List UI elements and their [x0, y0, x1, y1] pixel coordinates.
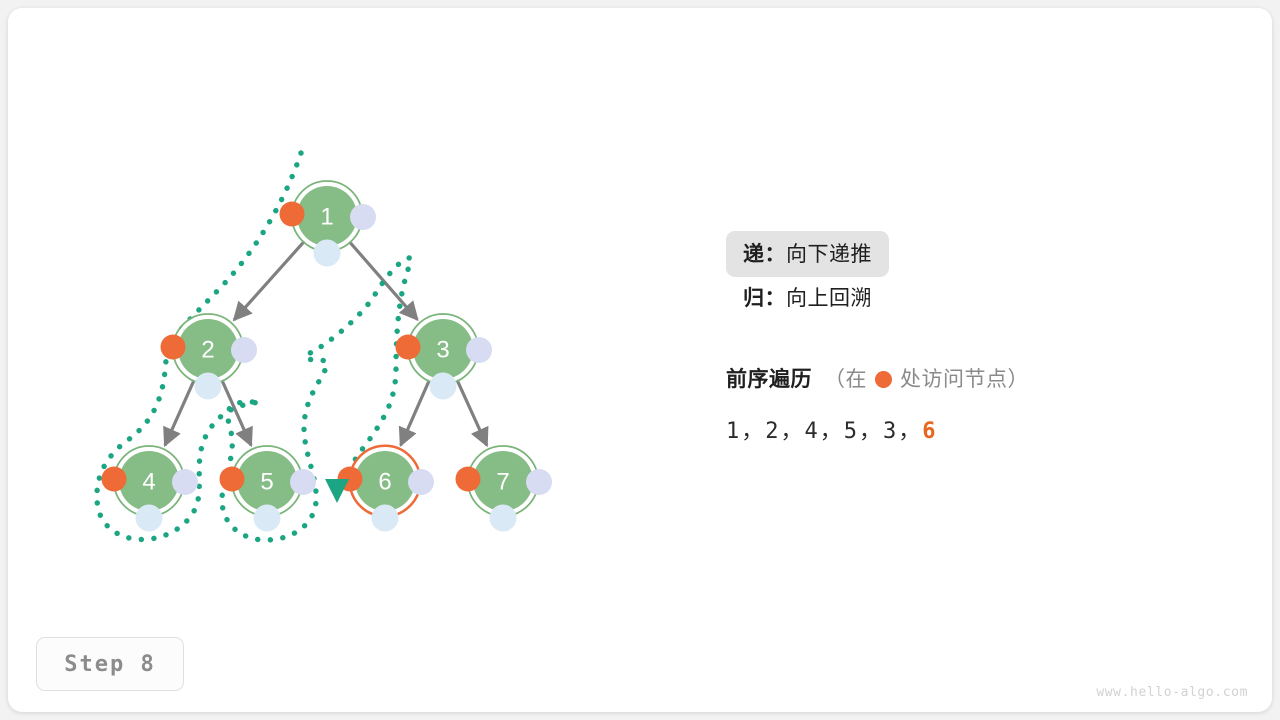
- traversal-name: 前序遍历: [726, 363, 812, 393]
- legend-key-backtrack: 归：: [743, 282, 786, 312]
- node-visit-marker-dot: [280, 202, 305, 227]
- tree-node-5[interactable]: 5: [220, 446, 317, 532]
- node-right-slot-dot: [408, 469, 434, 495]
- node-label: 6: [378, 469, 391, 496]
- orange-dot-icon: [875, 371, 892, 388]
- legend-key-recurse: 递：: [743, 238, 786, 268]
- tree-edge: [401, 380, 430, 445]
- node-label: 2: [201, 337, 214, 364]
- node-bottom-slot-dot: [136, 505, 163, 532]
- tree-edge: [234, 241, 304, 320]
- node-bottom-slot-dot: [314, 240, 341, 267]
- node-bottom-slot-dot: [195, 373, 222, 400]
- node-label: 4: [142, 469, 155, 496]
- legend-row-backtrack: 归：向上回溯: [726, 276, 1246, 320]
- node-label: 7: [496, 469, 509, 496]
- tree-node-7[interactable]: 7: [456, 446, 553, 532]
- node-right-slot-dot: [172, 469, 198, 495]
- node-right-slot-dot: [290, 469, 316, 495]
- traversal-block: 前序遍历 （在 处访问节点） 1，2，4，5，3，6: [726, 363, 1266, 445]
- node-right-slot-dot: [231, 337, 257, 363]
- tree-visualization-canvas: 1234567: [8, 8, 1272, 712]
- tree-edge: [457, 380, 487, 446]
- legend-pill-backtrack: 归：向上回溯: [726, 275, 889, 321]
- tree-node-4[interactable]: 4: [102, 446, 199, 532]
- pointer-triangle-icon: [325, 479, 349, 503]
- node-label: 5: [260, 469, 273, 496]
- current-position-marker: [325, 479, 349, 503]
- legend-panel: 递：向下递推 归：向上回溯: [726, 232, 1246, 320]
- node-visit-marker-dot: [161, 335, 186, 360]
- tree-nodes: 1234567: [102, 181, 553, 532]
- node-visit-marker-dot: [456, 467, 481, 492]
- binary-tree-diagram: 1234567: [8, 8, 1272, 712]
- traversal-note-open: （在: [824, 363, 867, 393]
- legend-pill-recurse: 递：向下递推: [726, 231, 889, 277]
- node-bottom-slot-dot: [254, 505, 281, 532]
- tree-edge: [222, 380, 251, 445]
- sequence-current: 6: [922, 419, 937, 444]
- node-bottom-slot-dot: [372, 505, 399, 532]
- node-visit-marker-dot: [102, 467, 127, 492]
- sequence-visited: 1，2，4，5，3，: [726, 419, 922, 444]
- node-bottom-slot-dot: [490, 505, 517, 532]
- traversal-title: 前序遍历 （在 处访问节点）: [726, 363, 1266, 393]
- legend-row-recurse: 递：向下递推: [726, 232, 1246, 276]
- tree-node-2[interactable]: 2: [161, 314, 258, 400]
- node-visit-marker-dot: [396, 335, 421, 360]
- node-bottom-slot-dot: [430, 373, 457, 400]
- node-right-slot-dot: [526, 469, 552, 495]
- node-visit-marker-dot: [220, 467, 245, 492]
- traversal-note-close: 处访问节点）: [900, 363, 1029, 393]
- step-badge: Step 8: [36, 637, 184, 691]
- legend-value-backtrack: 向上回溯: [786, 282, 872, 312]
- node-right-slot-dot: [466, 337, 492, 363]
- node-label: 3: [436, 337, 449, 364]
- traversal-sequence: 1，2，4，5，3，6: [726, 413, 1266, 445]
- tree-node-6[interactable]: 6: [338, 446, 435, 532]
- tree-edge: [165, 380, 194, 445]
- tree-node-3[interactable]: 3: [396, 314, 493, 400]
- node-right-slot-dot: [350, 204, 376, 230]
- legend-value-recurse: 向下递推: [786, 238, 872, 268]
- watermark: www.hello-algo.com: [1096, 685, 1248, 700]
- node-label: 1: [320, 204, 333, 231]
- page-card: 1234567 递：向下递推 归：向上回溯 前序遍历 （在 处访问节点） 1，2…: [8, 8, 1272, 712]
